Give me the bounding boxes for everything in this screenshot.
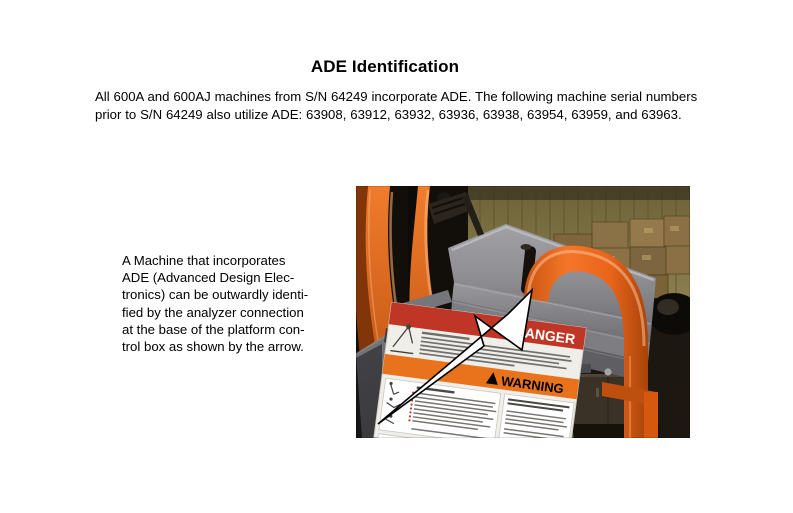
caption-line-1: A Machine that incorporates xyxy=(122,252,335,269)
caption-line-6: trol box as shown by the arrow. xyxy=(122,338,335,355)
intro-paragraph: All 600A and 600AJ machines from S/N 642… xyxy=(95,88,703,123)
figure-caption: A Machine that incorporates ADE (Advance… xyxy=(122,252,335,355)
caption-line-4: fied by the analyzer connection xyxy=(122,304,335,321)
caption-line-3: tronics) can be outwardly identi- xyxy=(122,286,335,303)
caption-line-2: ADE (Advanced Design Elec- xyxy=(122,269,335,286)
caption-line-5: at the base of the platform con- xyxy=(122,321,335,338)
machine-photograph: DANGER xyxy=(356,186,690,438)
photo-illustration: DANGER xyxy=(356,186,690,438)
page-title: ADE Identification xyxy=(0,57,770,77)
